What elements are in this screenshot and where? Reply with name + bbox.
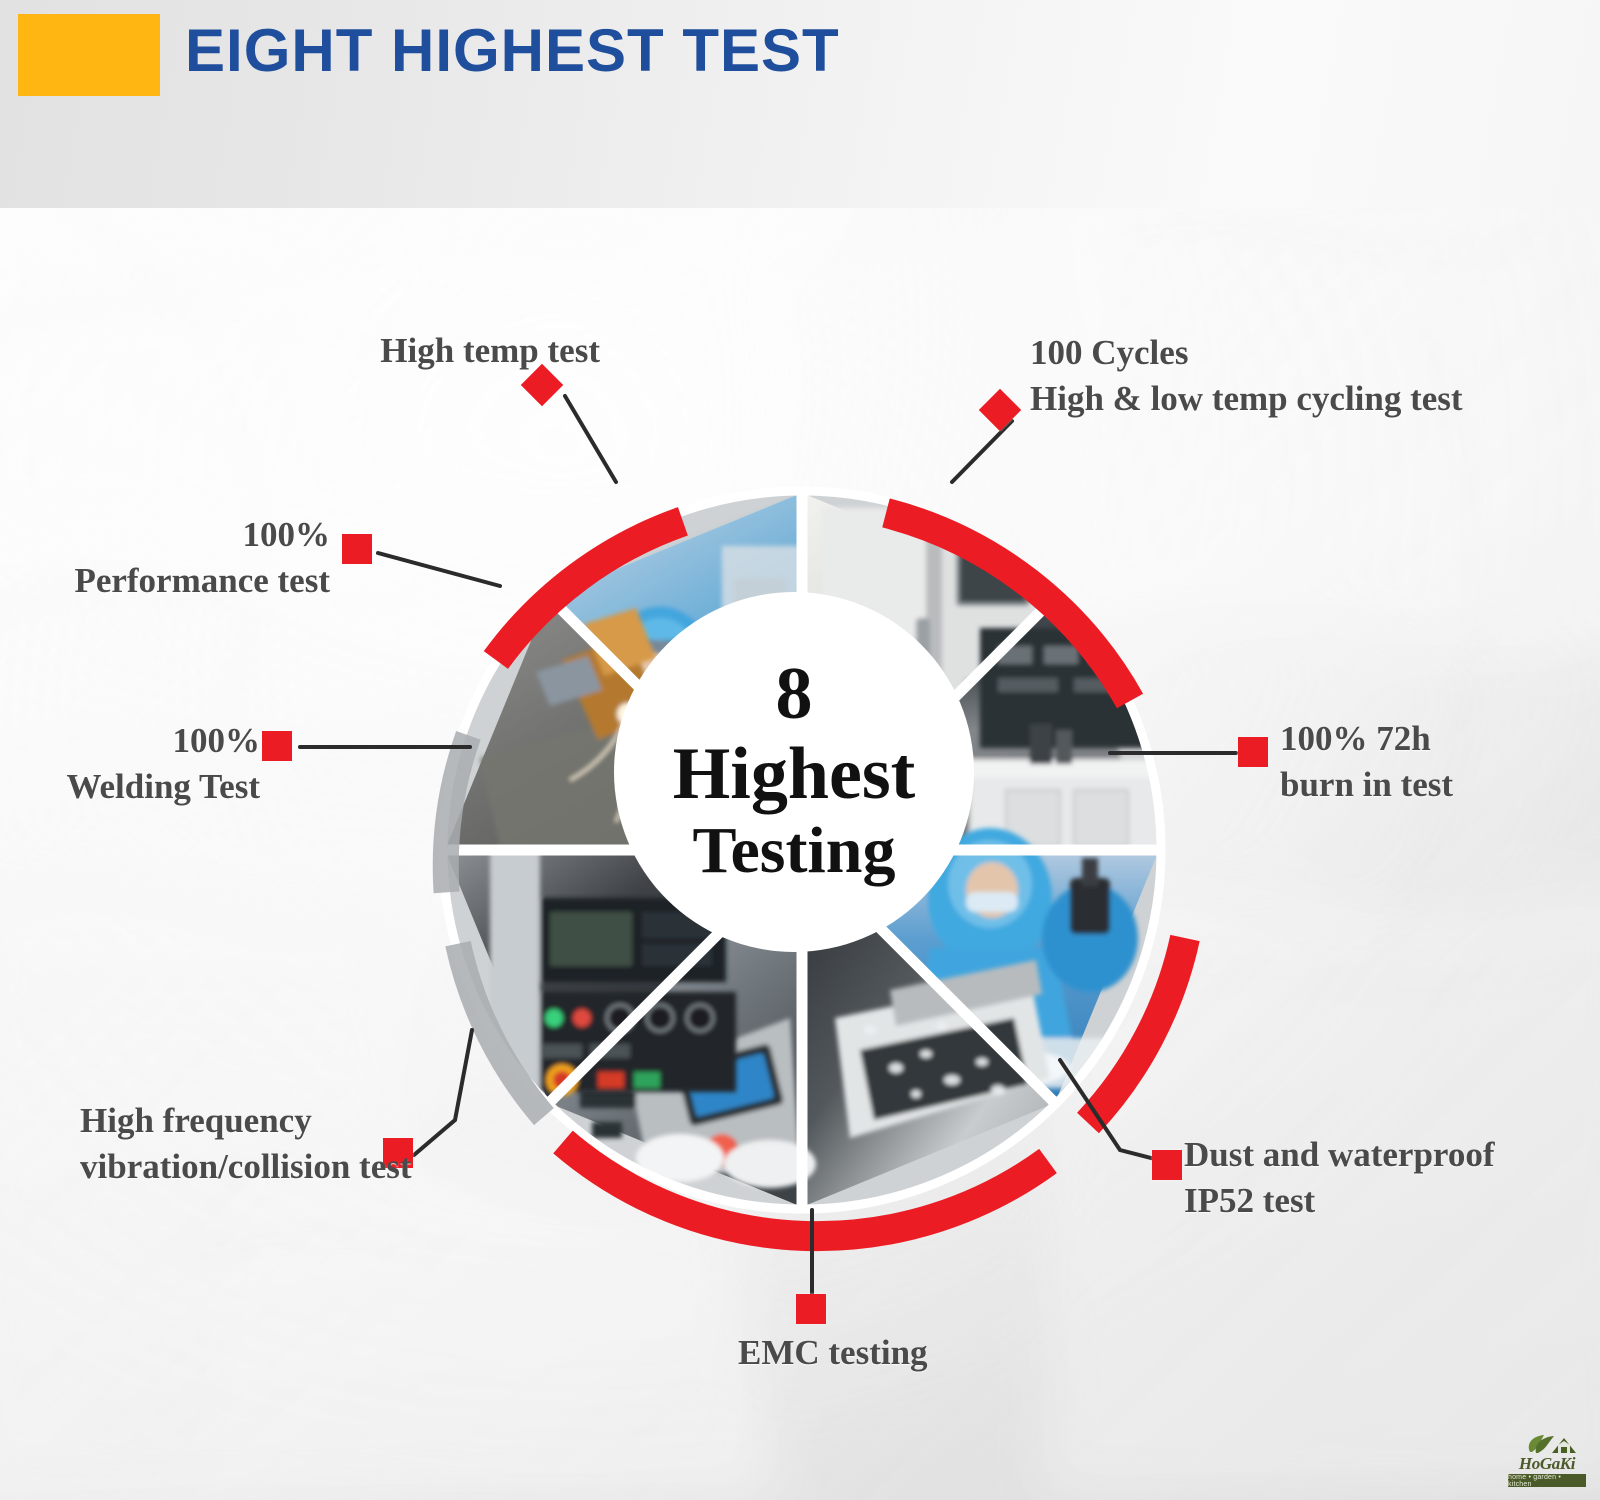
marker-performance-test[interactable] bbox=[342, 534, 372, 564]
callout-line: EMC testing bbox=[738, 1330, 1018, 1376]
callout-line: High temp test bbox=[330, 328, 600, 374]
center-number: 8 bbox=[776, 657, 813, 731]
callout-dust-waterproof-test: Dust and waterproof IP52 test bbox=[1184, 1132, 1600, 1224]
center-line-1: Highest bbox=[673, 735, 916, 815]
callout-line: burn in test bbox=[1280, 762, 1580, 808]
callout-line: High frequency bbox=[80, 1098, 500, 1144]
callout-temp-cycling-test: 100 Cycles High & low temp cycling test bbox=[1030, 330, 1590, 422]
brand-logo: HoGaKi home • garden • kitchen bbox=[1502, 1432, 1592, 1490]
callout-performance-test: 100% Performance test bbox=[10, 512, 330, 604]
callout-emc-testing: EMC testing bbox=[738, 1330, 1018, 1376]
callout-welding-test: 100% Welding Test bbox=[10, 718, 260, 810]
marker-dust-waterproof-test[interactable] bbox=[1152, 1150, 1182, 1180]
infographic-canvas: EIGHT HIGHEST TEST bbox=[0, 0, 1600, 1500]
callout-line: 100% bbox=[10, 512, 330, 558]
callout-line: 100% bbox=[10, 718, 260, 764]
logo-wordmark: HoGaKi bbox=[1502, 1454, 1592, 1474]
marker-welding-test[interactable] bbox=[262, 731, 292, 761]
callout-line: vibration/collision test bbox=[80, 1144, 500, 1190]
header-accent-swatch bbox=[18, 14, 160, 96]
callout-line: IP52 test bbox=[1184, 1178, 1600, 1224]
callout-vibration-collision-test: High frequency vibration/collision test bbox=[80, 1098, 500, 1190]
callout-line: Performance test bbox=[10, 558, 330, 604]
logo-tagline: home • garden • kitchen bbox=[1508, 1474, 1586, 1487]
callout-line: Dust and waterproof bbox=[1184, 1132, 1600, 1178]
page-title: EIGHT HIGHEST TEST bbox=[185, 16, 840, 85]
callout-line: High & low temp cycling test bbox=[1030, 376, 1590, 422]
callout-line: 100% 72h bbox=[1280, 716, 1580, 762]
center-line-2: Testing bbox=[693, 815, 896, 888]
marker-burn-in-test[interactable] bbox=[1238, 737, 1268, 767]
marker-emc-testing[interactable] bbox=[796, 1294, 826, 1324]
callout-line: 100 Cycles bbox=[1030, 330, 1590, 376]
callout-burn-in-test: 100% 72h burn in test bbox=[1280, 716, 1580, 808]
callout-line: Welding Test bbox=[10, 764, 260, 810]
callout-high-temp-test: High temp test bbox=[330, 328, 600, 374]
wheel-center-badge: 8 Highest Testing bbox=[614, 592, 974, 952]
page-header: EIGHT HIGHEST TEST bbox=[0, 0, 1600, 208]
